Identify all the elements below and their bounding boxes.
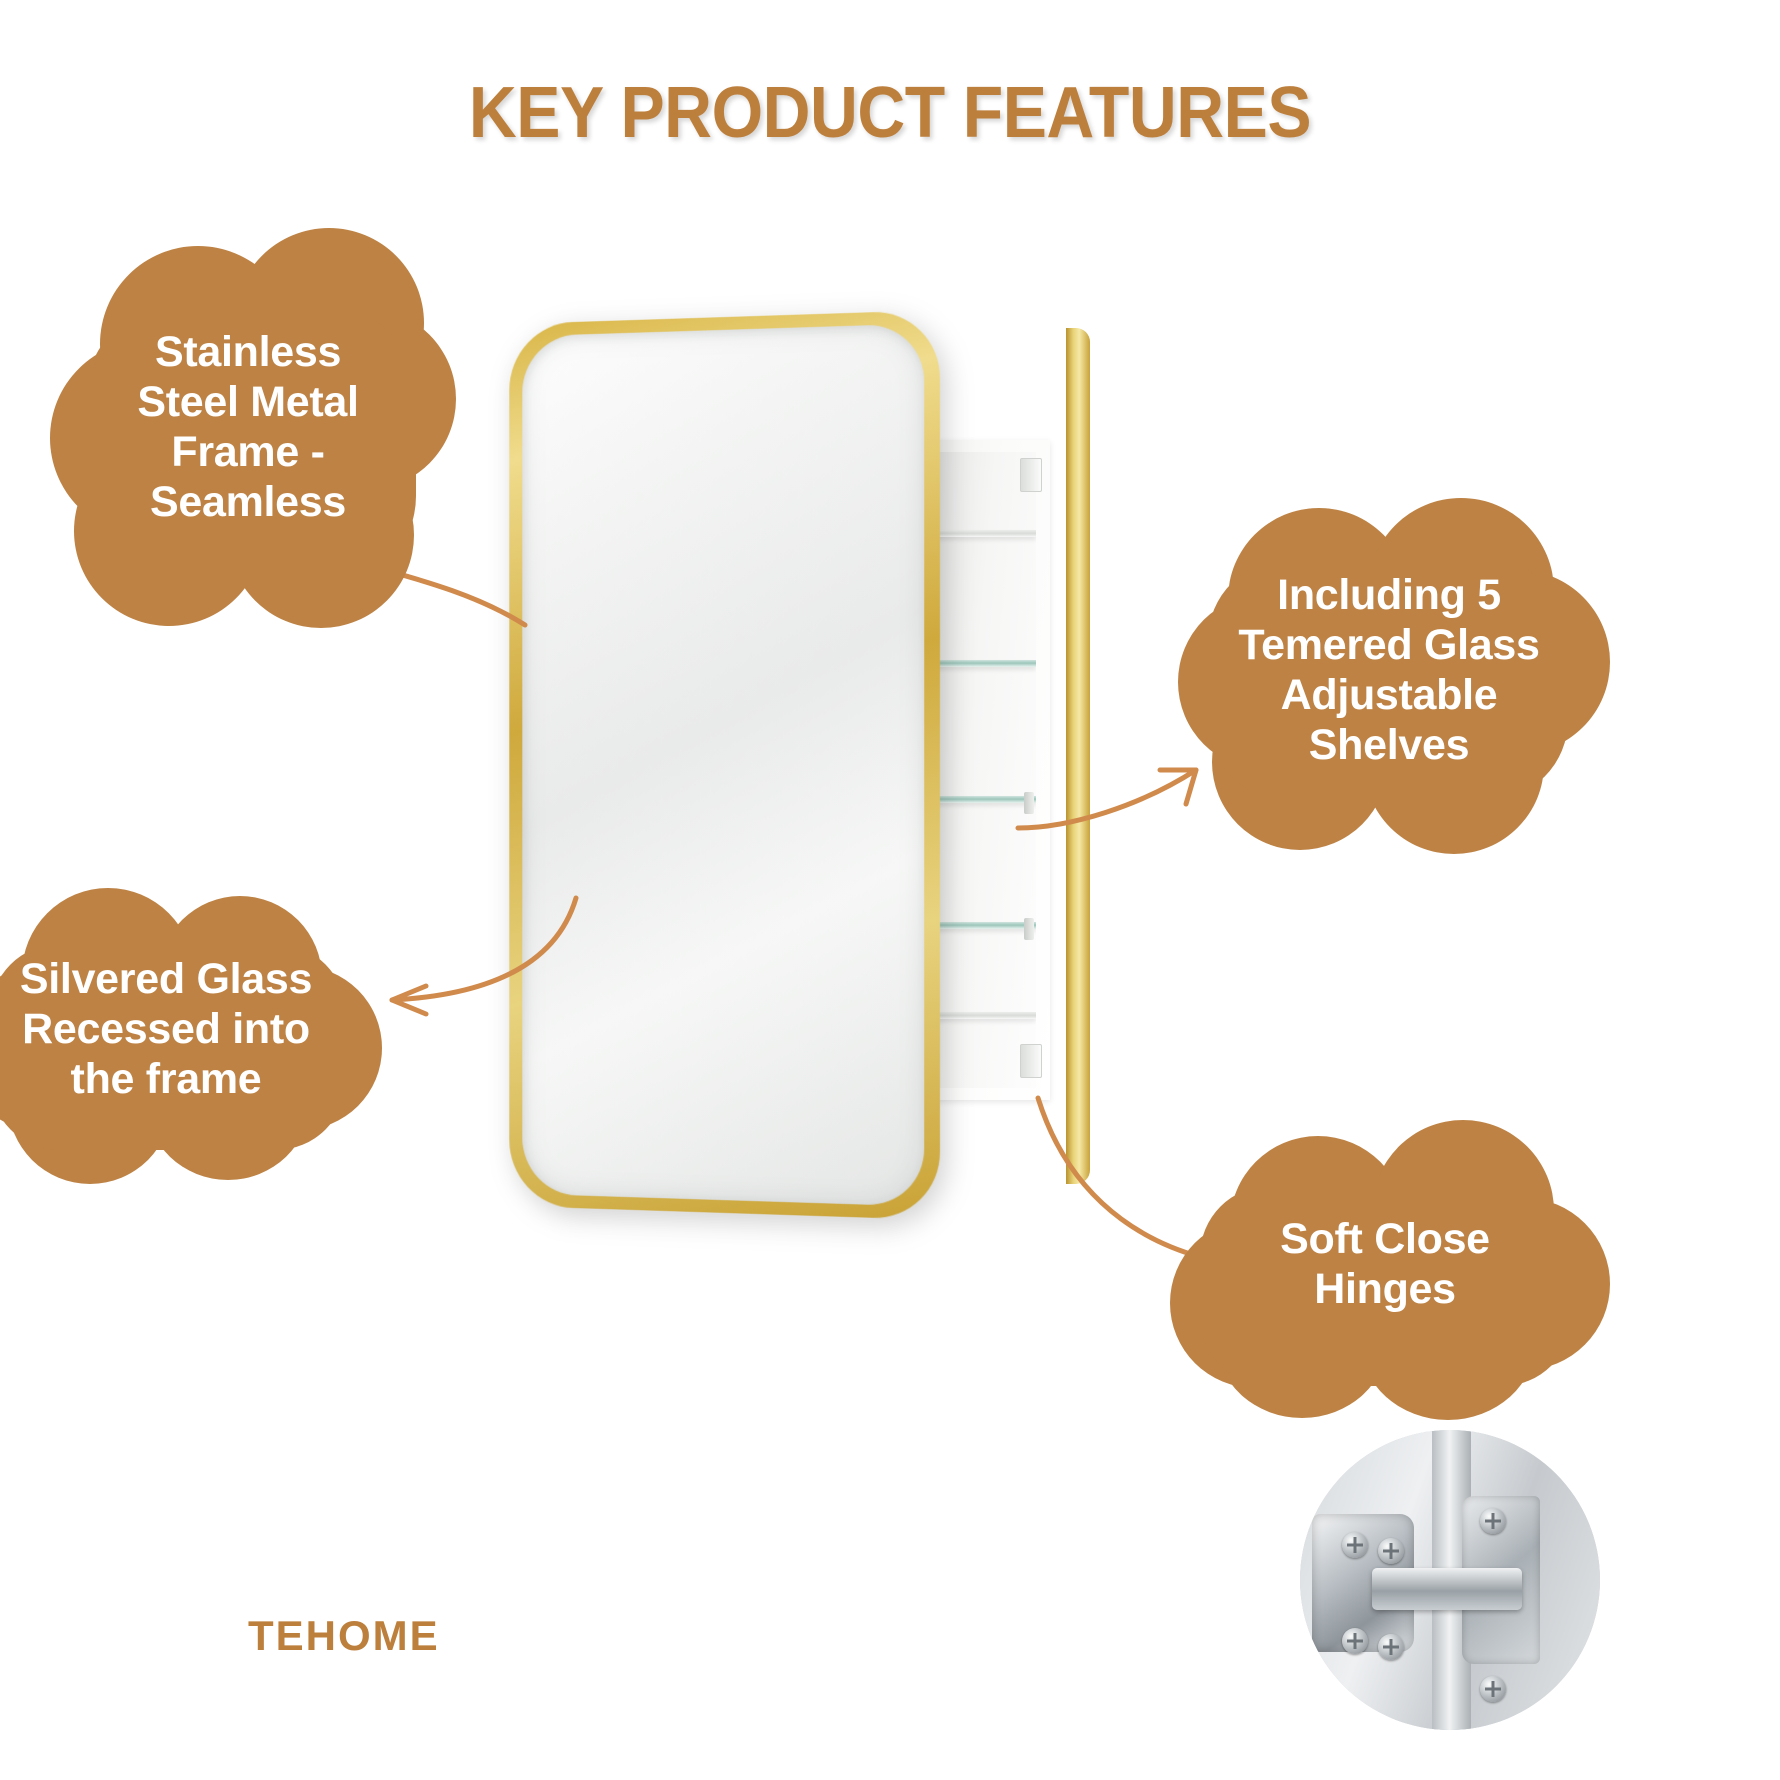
mirror-door	[509, 310, 940, 1220]
shelf-clip	[1024, 918, 1034, 940]
cabinet-shelf	[934, 1012, 1036, 1019]
callout-stainless-steel-frame: Stainless Steel Metal Frame - Seamless	[38, 228, 458, 628]
callout-text: Stainless Steel Metal Frame - Seamless	[125, 328, 370, 528]
screw-icon	[1480, 1508, 1506, 1534]
callout-text: Silvered Glass Recessed into the frame	[8, 955, 324, 1105]
hinge-photo	[1300, 1430, 1600, 1730]
screw-icon	[1480, 1676, 1506, 1702]
screw-icon	[1378, 1538, 1404, 1564]
arrow-to-mirror-glass	[370, 890, 600, 1020]
callout-text: Soft Close Hinges	[1268, 1215, 1502, 1315]
cabinet-top-bracket	[1020, 458, 1042, 492]
callout-adjustable-shelves: Including 5 Temered Glass Adjustable She…	[1168, 498, 1610, 844]
screw-icon	[1378, 1634, 1404, 1660]
brand-logo: TEHOME	[248, 1612, 440, 1660]
screw-icon	[1342, 1628, 1368, 1654]
page-title: KEY PRODUCT FEATURES	[71, 72, 1709, 154]
callout-text: Including 5 Temered Glass Adjustable She…	[1226, 571, 1551, 771]
mirror-glass	[522, 324, 924, 1207]
hinge-arm	[1372, 1568, 1522, 1610]
cabinet-shelf	[934, 922, 1036, 929]
cabinet-shelf	[934, 660, 1036, 667]
cabinet-shelf	[934, 530, 1036, 537]
screw-icon	[1342, 1532, 1368, 1558]
callout-silvered-glass: Silvered Glass Recessed into the frame	[0, 880, 390, 1180]
callout-soft-close-hinges: Soft Close Hinges	[1160, 1110, 1610, 1420]
cabinet-bottom-bracket	[1020, 1044, 1042, 1078]
